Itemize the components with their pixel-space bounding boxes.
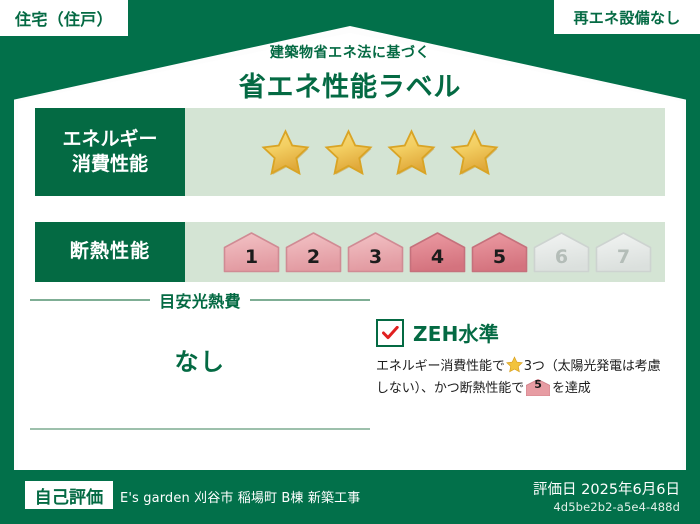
energy-cost-value: なし [30,342,370,377]
zeh-block: ZEH水準 エネルギー消費性能で3つ（太陽光発電は考慮しない）、かつ断熱性能で5… [376,318,672,401]
zeh-desc-part3: を達成 [552,381,591,396]
title-main: 省エネ性能ラベル [0,65,700,104]
energy-cost-bottom-rule [30,428,370,430]
star-icon [324,128,373,177]
energy-cost-heading-text: 目安光熱費 [159,288,241,312]
star-icon [387,128,436,177]
insulation-level-scale: 1234567 [185,231,652,273]
label-footer: 自己評価 E's garden 刈谷市 稲場町 B棟 新築工事 評価日 2025… [0,470,700,524]
evaluation-date: 評価日 2025年6月6日 [533,478,680,499]
zeh-heading: ZEH水準 [376,318,672,347]
insulation-level-value: 5 [493,246,506,273]
insulation-performance-panel: 1234567 [185,222,665,282]
label-title: 建築物省エネ法に基づく 省エネ性能ラベル [0,42,700,104]
insulation-level-chip: 1 [223,231,280,273]
property-name: E's garden 刈谷市 稲場町 B棟 新築工事 [120,487,360,506]
zeh-checkbox[interactable] [376,319,404,347]
insulation-level-value: 3 [369,246,382,273]
title-subtitle: 建築物省エネ法に基づく [0,42,700,62]
evaluation-id: 4d5be2b2-a5e4-488d [553,500,680,514]
insulation-level-value: 2 [307,246,320,273]
insulation-performance-label-box: 断熱性能 [35,222,185,282]
insulation-level-chip: 5 [471,231,528,273]
insulation-level-value: 1 [245,246,258,273]
insulation-level-chip: 6 [533,231,590,273]
check-icon [382,326,399,340]
star-icon [261,128,310,177]
insulation-level-value: 7 [617,246,630,273]
insulation-level-value: 6 [555,246,568,273]
energy-performance-row: エネルギー 消費性能 [35,108,665,196]
energy-label-line1: エネルギー [62,127,157,152]
building-type-badge: 住宅（住戸） [0,0,128,36]
divider-line-left [30,299,150,301]
star-rating [185,128,499,177]
zeh-desc-part1: エネルギー消費性能で [376,359,505,374]
zeh-title: ZEH水準 [413,318,499,347]
zeh-desc-level-chip: 5 [526,379,550,396]
insulation-level-chip: 3 [347,231,404,273]
energy-performance-label: 住宅（住戸） 再エネ設備なし 建築物省エネ法に基づく 省エネ性能ラベル エネルギ… [0,0,700,524]
self-evaluation-badge: 自己評価 [25,481,113,509]
zeh-desc-level-value: 5 [526,376,550,395]
star-icon [450,128,499,177]
insulation-level-chip: 2 [285,231,342,273]
insulation-level-value: 4 [431,246,444,273]
energy-cost-block: 目安光熱費 なし [30,288,370,377]
insulation-performance-row: 断熱性能 1234567 [35,222,665,282]
energy-performance-panel [185,108,665,196]
renewable-equipment-badge: 再エネ設備なし [554,0,700,34]
energy-performance-label-box: エネルギー 消費性能 [35,108,185,196]
insulation-level-chip: 7 [595,231,652,273]
zeh-description: エネルギー消費性能で3つ（太陽光発電は考慮しない）、かつ断熱性能で5を達成 [376,356,672,401]
insulation-level-chip: 4 [409,231,466,273]
divider-line-right [250,299,370,301]
energy-cost-heading: 目安光熱費 [30,288,370,312]
energy-label-line2: 消費性能 [72,152,148,177]
star-icon [506,356,523,373]
